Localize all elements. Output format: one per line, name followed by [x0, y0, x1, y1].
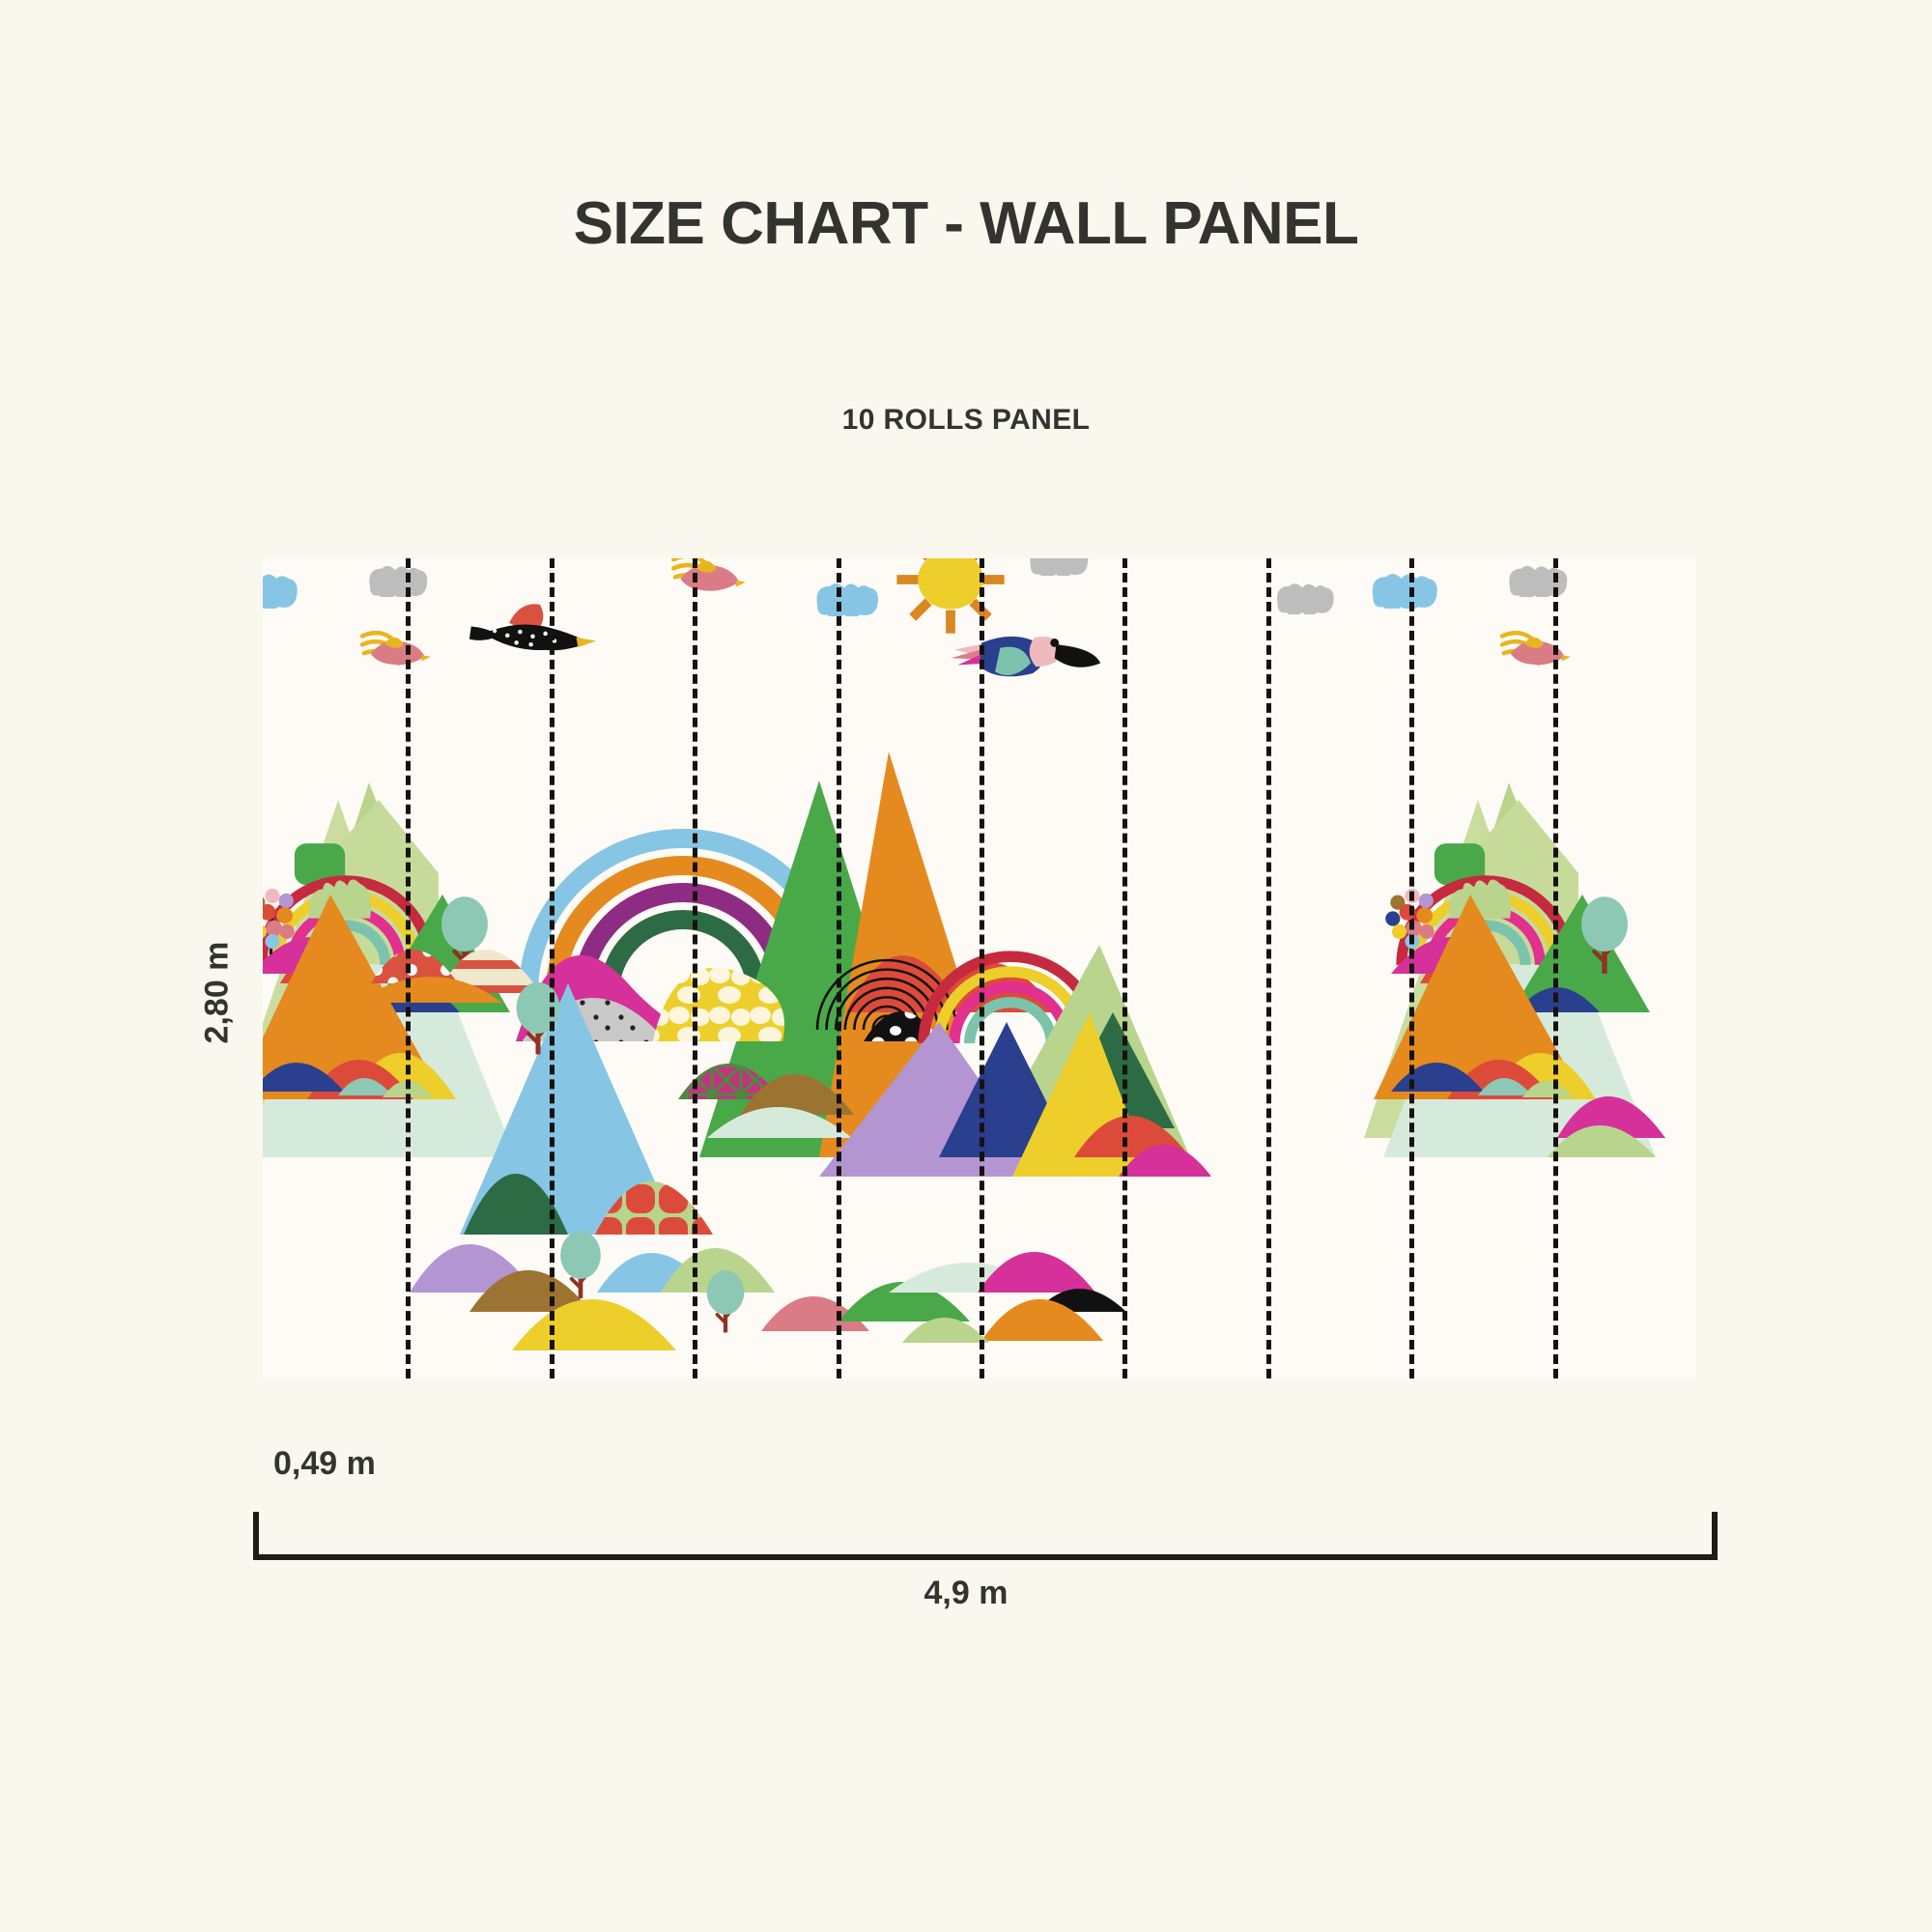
- bracket-tick-right: [1712, 1512, 1718, 1560]
- panel-height-label: 2,80 m: [179, 884, 256, 1106]
- page-subtitle: 10 ROLLS PANEL: [0, 404, 1932, 437]
- panel-height-value: 2,80 m: [199, 916, 237, 1070]
- panel-canvas: [263, 558, 1696, 1378]
- wall-panel-preview: [263, 558, 1696, 1378]
- total-width-label: 4,9 m: [0, 1575, 1932, 1612]
- roll-width-label: 0,49 m: [273, 1445, 376, 1483]
- wallpaper-artwork: [263, 558, 1696, 1378]
- bracket-bar: [253, 1554, 1718, 1560]
- page-title: SIZE CHART - WALL PANEL: [0, 189, 1932, 258]
- bracket-tick-left: [253, 1512, 259, 1560]
- total-width-bracket: [253, 1512, 1718, 1560]
